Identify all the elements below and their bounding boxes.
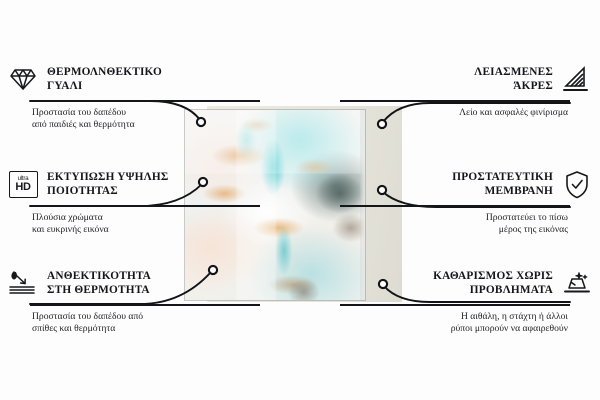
feature-divider [340,304,570,306]
feature-title: ΚΑΘΑΡΙΣΜΟΣ ΧΩΡΙΣ ΠΡΟΒΛΗΜΑΤΑ [433,269,553,297]
feature-description: Λείο και ασφαλές φινίρισμα [340,107,592,120]
easy-clean-icon [562,268,592,298]
feature-description: Πλούσια χρώματα και ευκρινής εικόνα [8,212,260,237]
beveled-edge-icon [562,64,592,94]
feature-header: ΠΡΟΣΤΑΤΕΥΤΙΚΗ ΜΕΜΒΡΑΝΗ [340,167,592,201]
shield-check-icon [562,169,592,199]
feature-heat-resistant-glass: ΘΕΡΜΟΛΝΘΕΚΤΙΚΟ ΓΥΑΛΙ Προστασία του δαπέδ… [8,62,260,132]
feature-high-quality-print: ultra HD ΕΚΤΥΠΩΣΗ ΥΨΗΛΗΣ ΠΟΙΟΤΗΤΑΣ Πλούσ… [8,167,260,237]
feature-divider [30,304,260,306]
feature-protective-membrane: ΠΡΟΣΤΑΤΕΥΤΙΚΗ ΜΕΜΒΡΑΝΗ Προστατεύει το πί… [340,167,592,237]
feature-description: Προστασία του δαπέδου από παιδιές και θε… [8,107,260,132]
feature-heat-durability: ΑΝΘΕΚΤΙΚΟΤΗΤΑ ΣΤΗ ΘΕΡΜΟΤΗΤΑ Προστασία το… [8,266,260,336]
feature-title: ΛΕΙΑΣΜΕΝΕΣ ΆΚΡΕΣ [474,65,553,93]
feature-header: ΘΕΡΜΟΛΝΘΕΚΤΙΚΟ ΓΥΑΛΙ [8,62,260,96]
ultra-hd-icon-bottom-label: HD [15,182,30,193]
feature-description: Η αιθάλη, η στάχτη ή άλλοι ρύποι μπορούν… [340,311,592,336]
feature-divider [340,100,570,102]
feature-description: Προστατεύει το πίσω μέρος της εικόνας [340,212,592,237]
feature-title: ΘΕΡΜΟΛΝΘΕΚΤΙΚΟ ΓΥΑΛΙ [47,65,162,93]
heat-resistance-icon [8,268,38,298]
feature-header: ultra HD ΕΚΤΥΠΩΣΗ ΥΨΗΛΗΣ ΠΟΙΟΤΗΤΑΣ [8,167,260,201]
feature-header: ΚΑΘΑΡΙΣΜΟΣ ΧΩΡΙΣ ΠΡΟΒΛΗΜΑΤΑ [340,266,592,300]
feature-divider [340,205,570,207]
feature-title: ΠΡΟΣΤΑΤΕΥΤΙΚΗ ΜΕΜΒΡΑΝΗ [452,170,553,198]
feature-easy-cleaning: ΚΑΘΑΡΙΣΜΟΣ ΧΩΡΙΣ ΠΡΟΒΛΗΜΑΤΑ Η αιθάλη, η … [340,266,592,336]
feature-divider [30,100,260,102]
feature-divider [30,205,260,207]
feature-header: ΛΕΙΑΣΜΕΝΕΣ ΆΚΡΕΣ [340,62,592,96]
feature-title: ΑΝΘΕΚΤΙΚΟΤΗΤΑ ΣΤΗ ΘΕΡΜΟΤΗΤΑ [47,269,151,297]
ultra-hd-icon: ultra HD [8,169,38,199]
feature-polished-edges: ΛΕΙΑΣΜΕΝΕΣ ΆΚΡΕΣ Λείο και ασφαλές φινίρι… [340,62,592,119]
diamond-icon [8,64,38,94]
feature-title: ΕΚΤΥΠΩΣΗ ΥΨΗΛΗΣ ΠΟΙΟΤΗΤΑΣ [47,170,168,198]
feature-description: Προστασία του δαπέδου από σπίθες και θερ… [8,311,260,336]
feature-header: ΑΝΘΕΚΤΙΚΟΤΗΤΑ ΣΤΗ ΘΕΡΜΟΤΗΤΑ [8,266,260,300]
product-feature-infographic: ΘΕΡΜΟΛΝΘΕΚΤΙΚΟ ΓΥΑΛΙ Προστασία του δαπέδ… [0,0,600,400]
